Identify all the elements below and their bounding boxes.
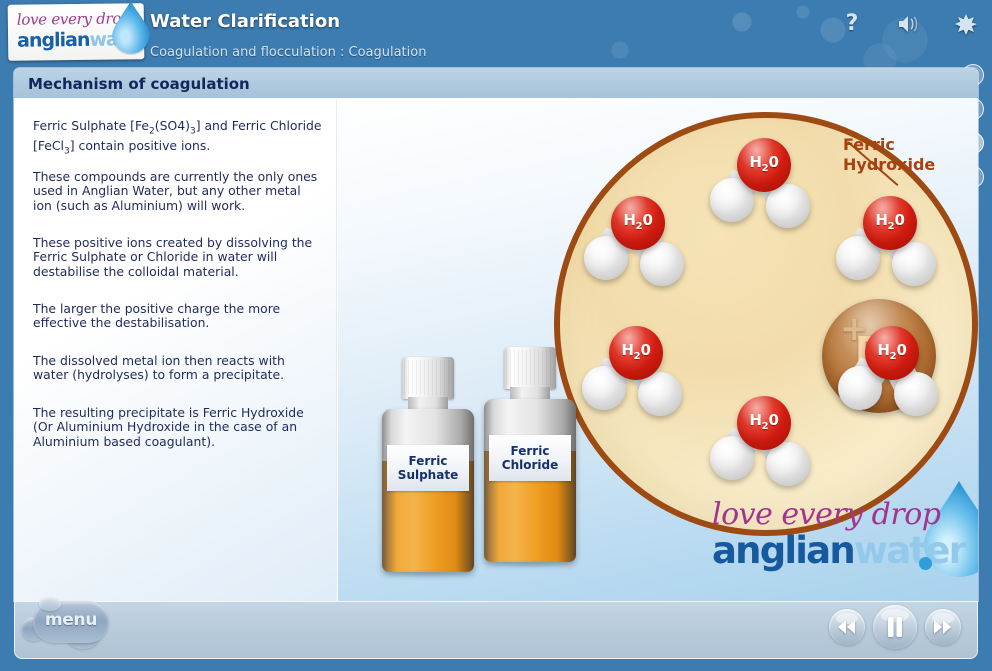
bottom-toolbar: menu: [14, 601, 978, 659]
help-icon[interactable]: ?: [840, 12, 864, 36]
playback-controls: [829, 605, 961, 649]
content-card: Mechanism of coagulation Ferric Sulphate…: [14, 68, 978, 601]
bottle-label: FerricChloride: [489, 435, 571, 481]
diagram-panel: + + + Fe H20: [338, 99, 978, 601]
oxygen-atom: H20: [863, 196, 917, 250]
app-title: Water Clarification: [150, 11, 340, 32]
water-label: H20: [863, 211, 917, 232]
anglian-water-watermark-logo: love every drop anglianwater: [712, 483, 978, 581]
bottle-cap: [402, 357, 454, 399]
bottle-ferric-sulphate: FerricSulphate: [382, 357, 474, 572]
rewind-button[interactable]: [829, 609, 865, 645]
water-molecule: H20: [582, 326, 682, 418]
logo-tagline: love every drop: [17, 9, 131, 28]
oxygen-atom: H20: [737, 396, 791, 450]
oxygen-atom: H20: [737, 138, 791, 192]
paragraph-6: The resulting precipitate is Ferric Hydr…: [33, 406, 323, 449]
bottle-cap: [504, 347, 556, 389]
application-window: love every drop anglianwater Water Clari…: [0, 0, 992, 671]
paragraph-3: These positive ions created by dissolvin…: [33, 236, 323, 279]
callout-label: Ferric Hydroxide: [843, 135, 978, 175]
bottle-label-text: FerricChloride: [502, 444, 558, 472]
circle-contents: + + + Fe H20: [560, 118, 972, 530]
card-body: Ferric Sulphate [Fe2(SO4)3] and Ferric C…: [14, 99, 978, 601]
watermark-word-anglian: anglian: [712, 529, 854, 572]
water-label: H20: [609, 341, 663, 362]
oxygen-atom: H20: [611, 196, 665, 250]
forward-button[interactable]: [925, 609, 961, 645]
oxygen-atom: H20: [865, 326, 919, 380]
watermark-dot-icon: [919, 557, 932, 570]
menu-button[interactable]: menu: [19, 597, 115, 651]
paragraph-2: These compounds are currently the only o…: [33, 170, 323, 213]
bottle-shadow: [486, 559, 574, 568]
close-icon[interactable]: [954, 12, 978, 36]
water-label: H20: [737, 153, 791, 174]
bottle-shadow: [384, 569, 472, 578]
paragraph-4: The larger the positive charge the more …: [33, 302, 323, 331]
watermark-word-water: water: [854, 529, 965, 572]
ferric-hydroxide-circle: + + + Fe H20: [554, 112, 978, 536]
anglian-water-logo: love every drop anglianwater: [8, 3, 145, 61]
breadcrumb: Coagulation and flocculation : Coagulati…: [150, 45, 426, 60]
water-molecule: H20: [710, 138, 810, 230]
logo-word-anglian: anglian: [17, 29, 90, 52]
card-header: Mechanism of coagulation: [14, 68, 978, 99]
water-molecule: H20: [836, 196, 936, 288]
page-title: Mechanism of coagulation: [28, 75, 250, 93]
menu-blob-highlight: [39, 597, 61, 611]
explanatory-text-panel: Ferric Sulphate [Fe2(SO4)3] and Ferric C…: [14, 99, 337, 601]
pause-button[interactable]: [873, 605, 917, 649]
watermark-tagline: love every drop: [712, 497, 941, 532]
paragraph-1: Ferric Sulphate [Fe2(SO4)3] and Ferric C…: [33, 119, 323, 159]
titlebar-icon-group: ?: [840, 12, 978, 36]
water-molecule: H20: [584, 196, 684, 288]
paragraph-5: The dissolved metal ion then reacts with…: [33, 354, 323, 383]
water-label: H20: [611, 211, 665, 232]
oxygen-atom: H20: [609, 326, 663, 380]
water-molecule: H20: [710, 396, 810, 488]
menu-button-label: menu: [33, 610, 109, 630]
water-label: H20: [737, 411, 791, 432]
title-bar: love every drop anglianwater Water Clari…: [0, 0, 992, 68]
volume-icon[interactable]: [897, 12, 921, 36]
water-molecule: H20: [838, 326, 938, 418]
water-label: H20: [865, 341, 919, 362]
bottle-ferric-chloride: FerricChloride: [484, 347, 576, 562]
bottle-label-text: FerricSulphate: [398, 454, 458, 482]
bottle-label: FerricSulphate: [387, 445, 469, 491]
